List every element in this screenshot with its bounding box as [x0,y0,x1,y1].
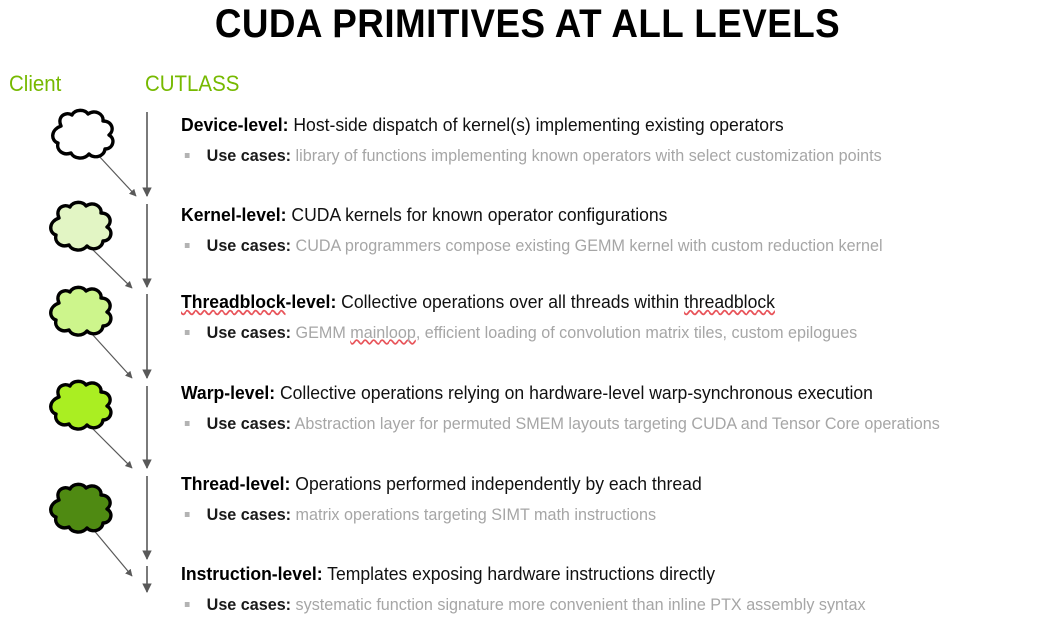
cloud-warp [45,379,115,433]
cloud-threadblock [45,285,115,339]
usecase-device: Use cases: library of functions implemen… [181,145,1008,166]
level-heading-warp: Warp-level: Collective operations relyin… [181,382,1008,404]
usecase-warp: Use cases: Abstraction layer for permute… [181,413,1008,434]
usecase-label: Use cases: [207,595,291,614]
bullet-icon [185,512,190,517]
level-block-thread: Thread-level: Operations performed indep… [181,473,1051,525]
usecase-thread: Use cases: matrix operations targeting S… [181,504,1008,525]
usecase-text: systematic function signature more conve… [296,595,866,614]
usecase-text-pre: GEMM [296,323,351,342]
level-description-kernel: CUDA kernels for known operator configur… [291,204,667,225]
level-name-instruction: Instruction-level: [181,563,323,584]
usecase-text: matrix operations targeting SIMT math in… [296,505,657,524]
level-block-device: Device-level: Host-side dispatch of kern… [181,114,1051,166]
level-name-thread: Thread-level: [181,473,290,494]
slide-canvas: CUDA PRIMITIVES AT ALL LEVELS Client CUT… [0,0,1055,637]
level-description-instruction: Templates exposing hardware instructions… [327,563,715,584]
level-block-threadblock: Threadblock-level: Collective operations… [181,291,1051,343]
bullet-icon [185,243,190,248]
bullet-icon [185,153,190,158]
level-block-kernel: Kernel-level: CUDA kernels for known ope… [181,204,1051,256]
bullet-icon [185,602,190,607]
cloud-thread [45,482,115,536]
cloud-device [47,108,117,162]
level-description-threadblock-pre: Collective operations over all threads w… [341,291,684,312]
level-block-warp: Warp-level: Collective operations relyin… [181,382,1051,434]
level-description-device: Host-side dispatch of kernel(s) implemen… [293,114,783,135]
level-name-threadblock: Threadblock [181,291,286,312]
usecase-kernel: Use cases: CUDA programmers compose exis… [181,235,1008,256]
usecase-text-misspelled: mainloop [350,323,416,342]
level-heading-thread: Thread-level: Operations performed indep… [181,473,1008,495]
level-heading-device: Device-level: Host-side dispatch of kern… [181,114,1008,136]
level-description-warp: Collective operations relying on hardwar… [280,382,873,403]
usecase-threadblock: Use cases: GEMM mainloop, efficient load… [181,322,1008,343]
level-heading-threadblock: Threadblock-level: Collective operations… [181,291,1008,313]
usecase-text-post: , efficient loading of convolution matri… [416,323,857,342]
hierarchy-diagram [0,0,185,637]
level-name-warp: Warp-level: [181,382,275,403]
level-block-instruction: Instruction-level: Templates exposing ha… [181,563,1051,615]
usecase-label: Use cases: [207,146,291,165]
usecase-label: Use cases: [207,414,291,433]
usecase-label: Use cases: [207,236,291,255]
level-heading-instruction: Instruction-level: Templates exposing ha… [181,563,1008,585]
cloud-kernel [45,200,115,254]
bullet-icon [185,421,190,426]
usecase-text: library of functions implementing known … [296,146,882,165]
usecase-label: Use cases: [207,505,291,524]
usecase-text: Abstraction layer for permuted SMEM layo… [295,414,940,433]
usecase-label: Use cases: [207,323,291,342]
level-name-kernel: Kernel-level: [181,204,286,225]
level-heading-kernel: Kernel-level: CUDA kernels for known ope… [181,204,1008,226]
usecase-text: CUDA programmers compose existing GEMM k… [296,236,883,255]
page-title: CUDA PRIMITIVES AT ALL LEVELS [42,2,1013,46]
bullet-icon [185,330,190,335]
level-name-threadblock-suffix: -level: [286,291,337,312]
level-description-thread: Operations performed independently by ea… [295,473,701,494]
level-name-device: Device-level: [181,114,288,135]
level-description-threadblock-misspelled: threadblock [684,291,775,312]
usecase-instruction: Use cases: systematic function signature… [181,594,1008,615]
